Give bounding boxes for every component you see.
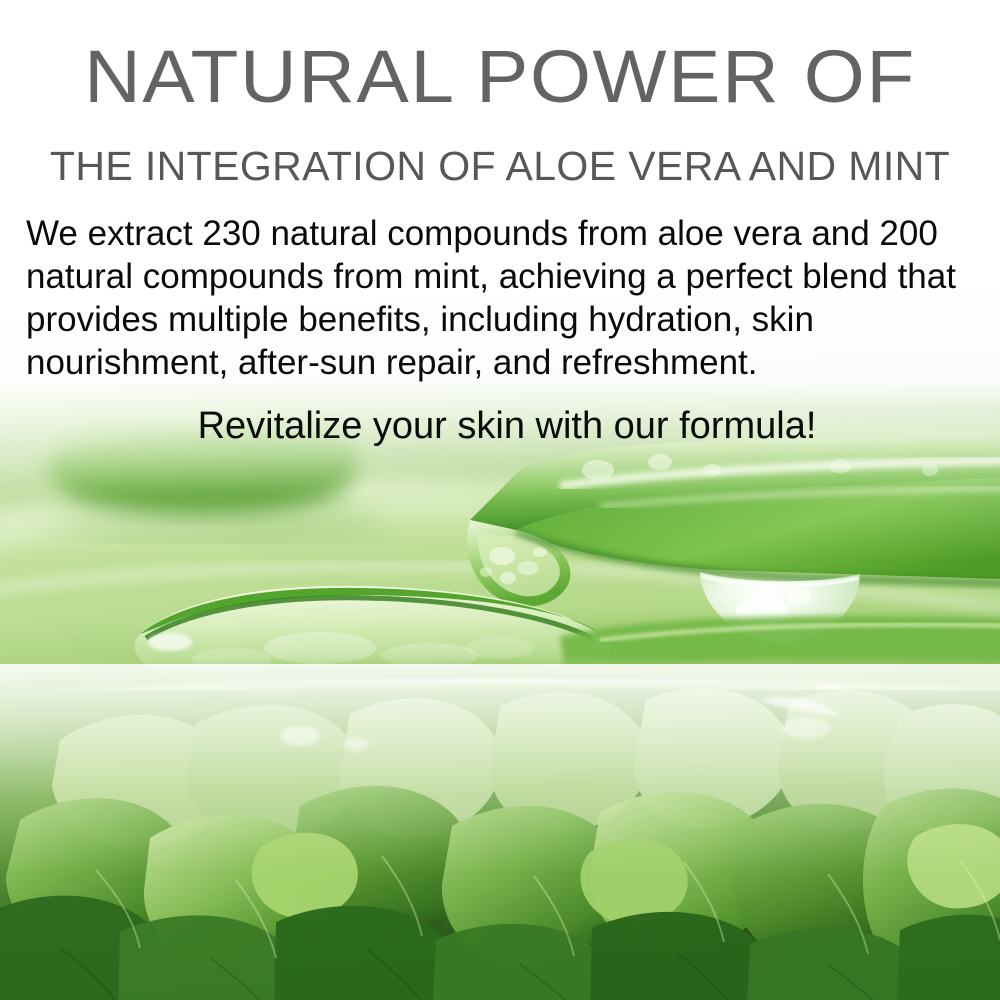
tagline-call-to-action: Revitalize your skin with our formula! [0,403,1000,449]
page-subtitle: THE INTEGRATION OF ALOE VERA AND MINT [0,142,1000,190]
product-marketing-poster: NATURAL POWER OF THE INTEGRATION OF ALOE… [0,0,1000,1000]
description-paragraph: We extract 230 natural compounds from al… [26,212,976,384]
poster-text-layer: NATURAL POWER OF THE INTEGRATION OF ALOE… [0,0,1000,1000]
page-title: NATURAL POWER OF [0,36,1000,118]
